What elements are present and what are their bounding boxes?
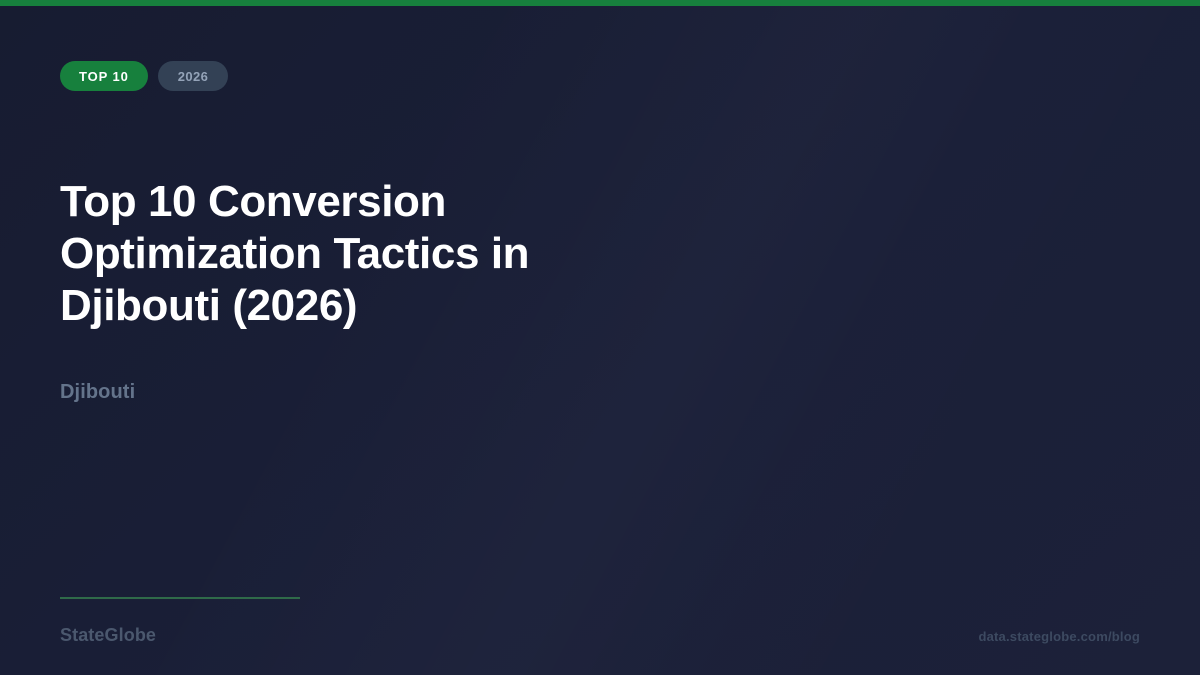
badge-year[interactable]: 2026: [158, 61, 229, 91]
page-title-line-1: Top 10 Conversion: [60, 177, 446, 226]
page-title: Top 10 ConversionOptimization Tactics in…: [60, 176, 620, 332]
page-subtitle: Djibouti: [60, 381, 135, 404]
page-title-line-3: Djibouti (2026): [60, 281, 357, 330]
footer-divider: [60, 597, 300, 599]
footer-brand-name: StateGlobe: [60, 625, 156, 646]
hero-text-block: Top 10 ConversionOptimization Tactics in…: [60, 176, 620, 332]
top-accent-bar: [0, 0, 1200, 6]
footer-site-url[interactable]: data.stateglobe.com/blog: [978, 629, 1140, 644]
page-title-line-2: Optimization Tactics in: [60, 229, 529, 278]
card-footer: StateGlobe data.stateglobe.com/blog: [60, 597, 1140, 646]
article-cover-card: TOP 10 2026 Top 10 ConversionOptimizatio…: [0, 0, 1200, 675]
badge-top-10[interactable]: TOP 10: [60, 61, 148, 91]
footer-row: StateGlobe data.stateglobe.com/blog: [60, 625, 1140, 646]
badge-row: TOP 10 2026: [60, 61, 228, 91]
